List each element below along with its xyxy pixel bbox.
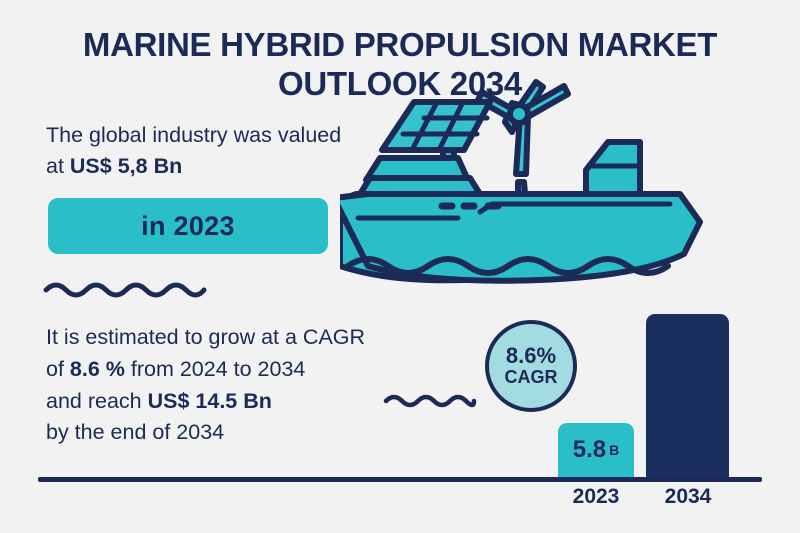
hybrid-ship-icon: [340, 70, 770, 295]
chart-baseline: [38, 477, 762, 482]
x-axis-label-2034: 2034: [638, 485, 738, 509]
year-badge-2023: in 2023: [48, 198, 328, 254]
lead-value: US$ 5,8 Bn: [70, 154, 182, 178]
market-size-bar-chart: 8.6% CAGR 5.8 B 2023 2034: [0, 295, 800, 533]
bar-2023: 5.8 B: [558, 423, 634, 477]
cagr-badge: 8.6% CAGR: [485, 320, 577, 412]
title-line-1: MARINE HYBRID PROPULSION MARKET: [83, 26, 717, 63]
bar-2023-unit: B: [609, 442, 619, 458]
cagr-percent: 8.6%: [506, 344, 556, 367]
bar-2034: [646, 314, 729, 477]
cagr-label: CAGR: [505, 367, 558, 388]
bar-2023-value: 5.8: [573, 438, 606, 462]
lead-statement: The global industry was valued at US$ 5,…: [46, 120, 346, 181]
year-badge-label: in 2023: [141, 211, 235, 242]
x-axis-label-2023: 2023: [546, 485, 646, 509]
infographic-canvas: MARINE HYBRID PROPULSION MARKET OUTLOOK …: [0, 0, 800, 533]
